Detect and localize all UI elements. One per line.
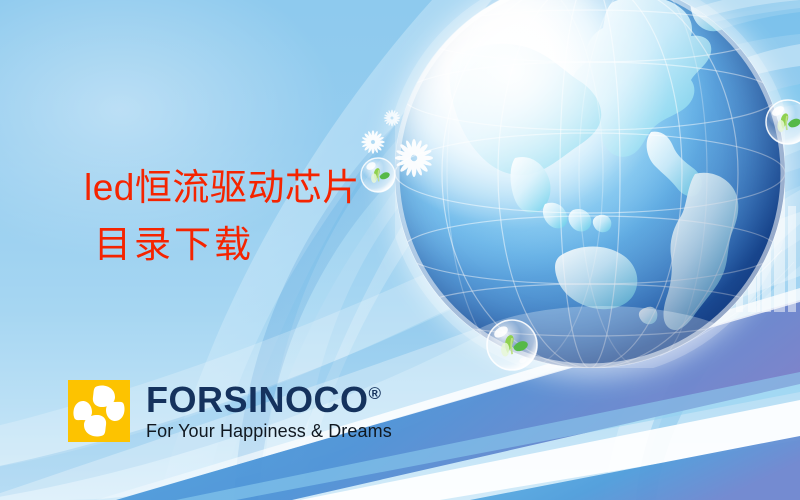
- logo-tagline: For Your Happiness & Dreams: [146, 421, 392, 441]
- headline-line-1: led恒流驱动芯片: [84, 160, 360, 216]
- globe-icon: [395, 0, 785, 368]
- brand-logo[interactable]: FORSINOCO® For Your Happiness & Dreams: [68, 380, 392, 442]
- bubble-with-seedling-icon: [361, 158, 395, 192]
- four-petal-pinwheel-icon: [68, 380, 130, 442]
- headline-line-2: 目录下载: [94, 218, 254, 274]
- registered-mark: ®: [369, 384, 382, 403]
- logo-wordmark: FORSINOCO®: [146, 382, 392, 418]
- logo-brand-name: FORSINOCO: [146, 379, 369, 420]
- promotional-banner: led恒流驱动芯片 目录下载 FORSINOCO® Fo: [0, 0, 800, 500]
- logo-text-block: FORSINOCO® For Your Happiness & Dreams: [146, 380, 392, 441]
